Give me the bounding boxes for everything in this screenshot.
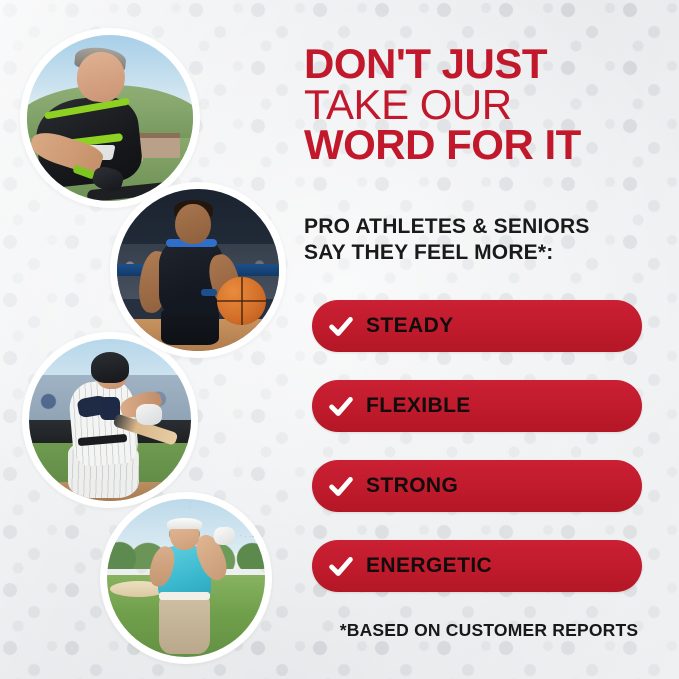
- benefit-label: STEADY: [366, 314, 454, 338]
- check-icon: [326, 551, 356, 581]
- headline-line-1: DON'T JUST: [304, 44, 674, 85]
- baseball-photo: [22, 332, 198, 508]
- benefit-pill-strong[interactable]: STRONG: [312, 460, 642, 512]
- subheadline: PRO ATHLETES & SENIORS SAY THEY FEEL MOR…: [304, 214, 676, 267]
- cyclist-photo: [20, 28, 200, 208]
- promotional-poster: DON'T JUST TAKE OUR WORD FOR IT PRO ATHL…: [0, 0, 679, 679]
- check-icon: [326, 471, 356, 501]
- baseball-scene: [29, 339, 191, 501]
- golf-scene: [107, 499, 265, 657]
- golf-glove: [214, 527, 235, 544]
- cyclist-scene: [27, 35, 193, 201]
- basketball-icon: [217, 277, 266, 326]
- footnote-disclaimer: *BASED ON CUSTOMER REPORTS: [302, 620, 676, 641]
- benefit-label: STRONG: [366, 474, 458, 498]
- golfer-belt: [159, 592, 210, 600]
- headline: DON'T JUST TAKE OUR WORD FOR IT: [304, 44, 674, 166]
- golfer-visor: [167, 518, 202, 529]
- player-head: [175, 204, 211, 245]
- player-wristband: [201, 289, 217, 295]
- subheadline-line-1: PRO ATHLETES & SENIORS: [304, 214, 676, 240]
- benefit-label: FLEXIBLE: [366, 394, 471, 418]
- check-icon: [326, 311, 356, 341]
- benefit-pill-flexible[interactable]: FLEXIBLE: [312, 380, 642, 432]
- subheadline-line-2: SAY THEY FEEL MORE*:: [304, 240, 676, 266]
- benefit-list: STEADY FLEXIBLE STRONG ENERGETIC: [312, 300, 642, 620]
- check-icon: [326, 391, 356, 421]
- batting-glove: [136, 404, 162, 425]
- basketball-scene: [117, 189, 279, 351]
- benefit-pill-energetic[interactable]: ENERGETIC: [312, 540, 642, 592]
- headline-line-3: WORD FOR IT: [304, 125, 674, 166]
- golfer-pants: [159, 594, 210, 654]
- golfer-photo: [100, 492, 272, 664]
- benefit-pill-steady[interactable]: STEADY: [312, 300, 642, 352]
- batting-helmet: [91, 352, 130, 383]
- content-column: DON'T JUST TAKE OUR WORD FOR IT PRO ATHL…: [296, 0, 679, 679]
- benefit-label: ENERGETIC: [366, 554, 492, 578]
- basketball-photo: [110, 182, 286, 358]
- headline-line-2: TAKE OUR: [304, 85, 674, 126]
